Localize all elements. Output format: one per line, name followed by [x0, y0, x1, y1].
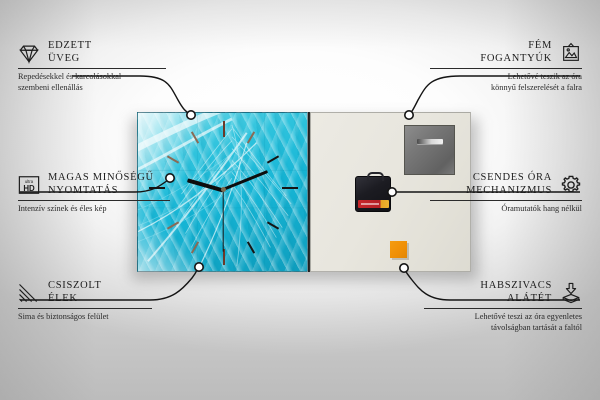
- callout-habszivacs-alatet: HABSZIVACS ALÁTÉT Lehetővé teszi az óra …: [424, 280, 582, 333]
- callout-description: Intenzív színek és éles kép: [18, 204, 168, 215]
- callout-title: EDZETT: [48, 40, 92, 53]
- clock-tick-3: [282, 187, 298, 189]
- callout-rule: [18, 308, 152, 309]
- callout-title: CSISZOLT: [48, 280, 102, 293]
- polished-edge-icon: [18, 282, 40, 304]
- callout-rule: [430, 200, 582, 201]
- ultra-hd-icon: ultra HD: [18, 174, 40, 196]
- callout-csiszolt-elek: CSISZOLT ÉLEK Sima és biztonságos felüle…: [18, 280, 178, 323]
- callout-rule: [18, 68, 166, 69]
- callout-title-2: MECHANIZMUS: [466, 185, 552, 198]
- callout-title-2: FOGANTYÚK: [480, 53, 552, 66]
- callout-description: Sima és biztonságos felület: [18, 312, 168, 323]
- picture-hanger-icon: [560, 42, 582, 64]
- callout-description-line1: Lehetővé teszi az óra egyenletes: [424, 312, 582, 323]
- callout-edzett-uveg: EDZETT ÜVEG Repedésekkel és karcolásokka…: [18, 40, 178, 93]
- callout-csendes-ora-mechanizmus: CSENDES ÓRA MECHANIZMUS Óramutatók hang …: [430, 172, 582, 215]
- callout-rule: [424, 308, 582, 309]
- callout-title-2: NYOMTATÁS: [48, 185, 154, 198]
- callout-magas-minosegu-nyomtatas: ultra HD MAGAS MINŐSÉGŰ NYOMTATÁS Intenz…: [18, 172, 188, 215]
- callout-description: Lehetővé teszik az óra könnyű felszerelé…: [430, 72, 582, 93]
- clock-tick-12: [223, 121, 225, 137]
- infographic-canvas: EDZETT ÜVEG Repedésekkel és karcolásokka…: [0, 0, 600, 400]
- callout-description: Óramutatók hang nélkül: [430, 204, 582, 215]
- callout-description: Repedésekkel és karcolásokkal szembeni e…: [18, 72, 150, 93]
- gear-icon: [560, 174, 582, 196]
- callout-title-2: ALÁTÉT: [480, 293, 552, 306]
- diamond-icon: [18, 42, 40, 64]
- hanger-slot: [417, 139, 443, 144]
- callout-description-line1: Lehetővé teszik az óra: [430, 72, 582, 83]
- callout-description-line2: könnyű felszerelését a falra: [430, 83, 582, 94]
- clock-second-hand: [222, 190, 223, 252]
- callout-title: HABSZIVACS: [480, 280, 552, 293]
- callout-rule: [18, 200, 170, 201]
- quiet-clock-mechanism: [355, 176, 391, 212]
- callout-title-2: ÉLEK: [48, 293, 102, 306]
- mechanism-hook: [367, 172, 384, 181]
- callout-title: CSENDES ÓRA: [466, 172, 552, 185]
- callout-description: Lehetővé teszi az óra egyenletes távolsá…: [424, 312, 582, 333]
- callout-title-2: ÜVEG: [48, 53, 92, 66]
- clock-center-hub: [221, 187, 226, 192]
- callout-title: FÉM: [480, 40, 552, 53]
- svg-text:HD: HD: [23, 183, 35, 192]
- callout-fem-fogantyuk: FÉM FOGANTYÚK Lehetővé teszik az óra kön…: [430, 40, 582, 93]
- aa-battery: [358, 200, 389, 208]
- metal-hanger-plate: [404, 125, 455, 175]
- callout-title: MAGAS MINŐSÉGŰ: [48, 172, 154, 185]
- foam-spacer-pad: [390, 241, 407, 258]
- callout-description-line2: távolságban tartását a faltól: [424, 323, 582, 334]
- foam-pad-icon: [560, 282, 582, 304]
- callout-rule: [430, 68, 582, 69]
